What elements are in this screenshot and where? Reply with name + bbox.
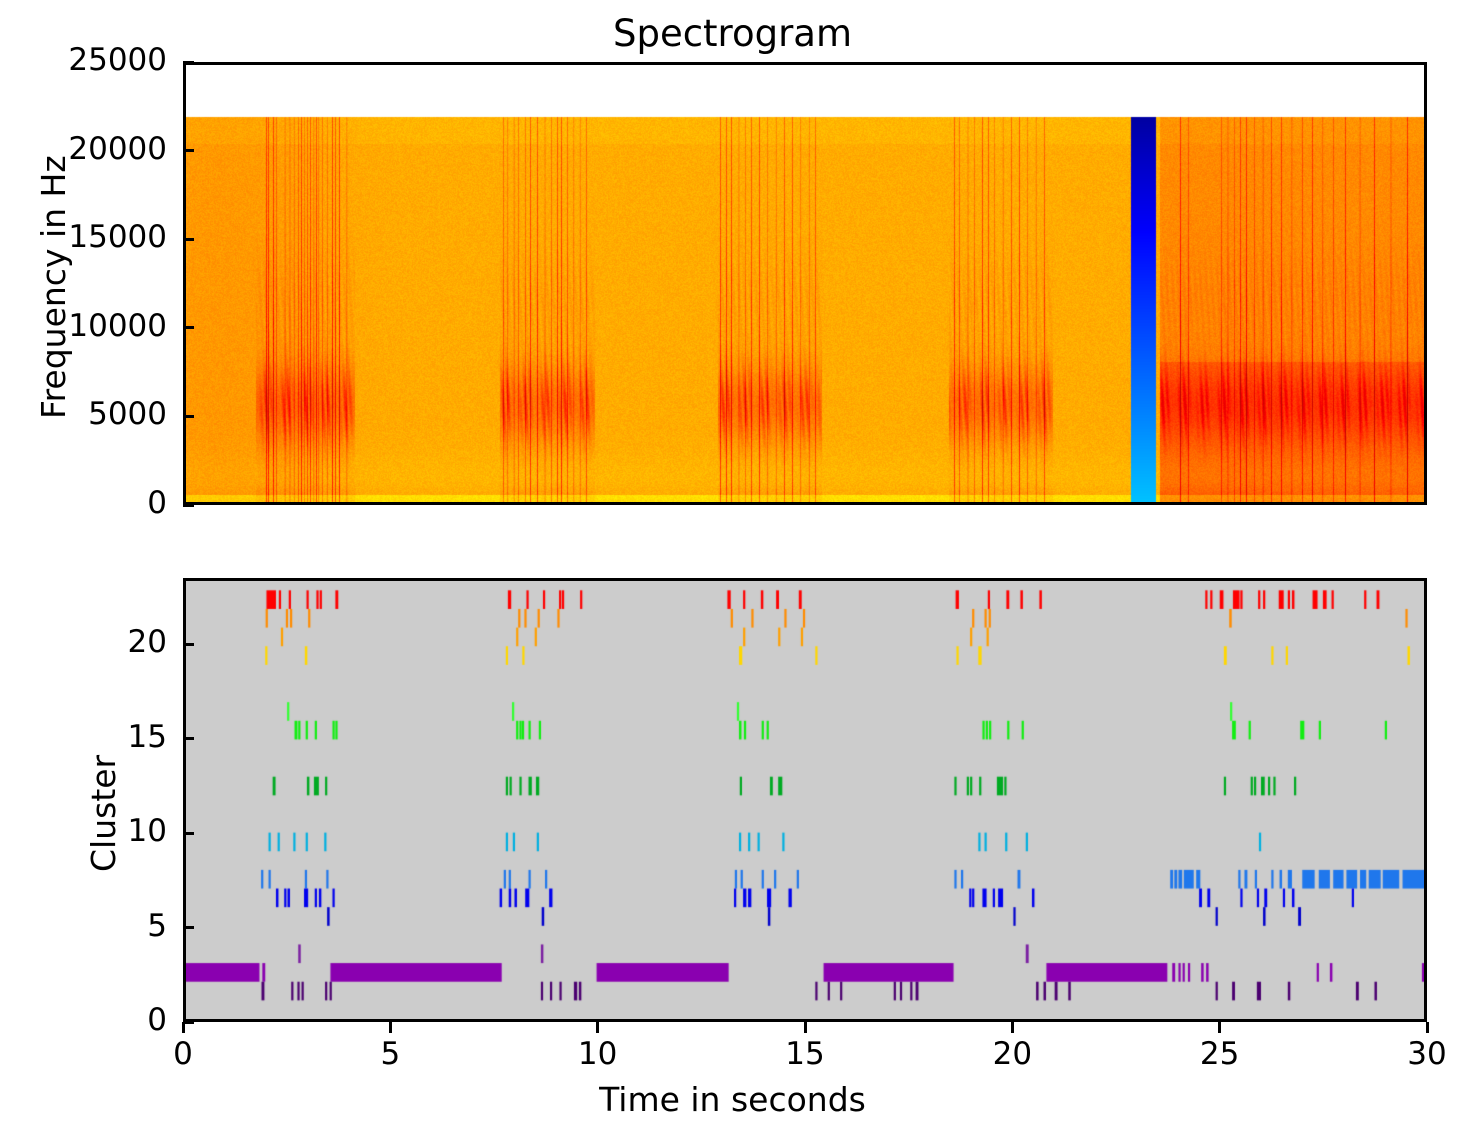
- time-tick-mark-5: [389, 1022, 392, 1033]
- cluster-axes: [183, 578, 1427, 1022]
- time-tick-mark-15: [804, 1022, 807, 1033]
- cluster-y-tick-label-5: 5: [0, 908, 167, 944]
- spectrogram-tick-mark-25000: [183, 61, 194, 64]
- time-tick-label-5: 5: [330, 1036, 450, 1072]
- spectrogram-tick-mark-5000: [183, 415, 194, 418]
- cluster-tick-mark-20: [183, 643, 194, 646]
- cluster-tick-mark-15: [183, 737, 194, 740]
- cluster-tick-mark-10: [183, 832, 194, 835]
- cluster-x-axis-label: Time in seconds: [0, 1080, 1465, 1119]
- spectrogram-image: [186, 65, 1424, 502]
- time-tick-label-15: 15: [745, 1036, 865, 1072]
- cluster-y-tick-label-15: 15: [0, 719, 167, 755]
- spectrogram-tick-mark-20000: [183, 149, 194, 152]
- time-tick-label-25: 25: [1160, 1036, 1280, 1072]
- cluster-tick-mark-0: [183, 1021, 194, 1024]
- spectrogram-axes: [183, 62, 1427, 505]
- time-tick-label-30: 30: [1367, 1036, 1465, 1072]
- figure-title: Spectrogram: [0, 12, 1465, 55]
- spectrogram-y-tick-label-10000: 10000: [0, 308, 167, 344]
- spectrogram-y-tick-label-25000: 25000: [0, 42, 167, 78]
- spectrogram-y-tick-label-15000: 15000: [0, 219, 167, 255]
- time-tick-mark-25: [1218, 1022, 1221, 1033]
- spectrogram-tick-mark-10000: [183, 326, 194, 329]
- spectrogram-tick-mark-0: [183, 504, 194, 507]
- spectrogram-y-tick-label-20000: 20000: [0, 131, 167, 167]
- time-tick-mark-0: [182, 1022, 185, 1033]
- spectrogram-y-axis-label: Frequency in Hz: [34, 155, 73, 419]
- time-tick-mark-30: [1426, 1022, 1429, 1033]
- cluster-y-axis-label: Cluster: [84, 755, 123, 872]
- figure-root: Spectrogram 0500010000150002000025000 Fr…: [0, 0, 1465, 1135]
- spectrogram-tick-mark-15000: [183, 238, 194, 241]
- cluster-tick-mark-5: [183, 926, 194, 929]
- time-tick-label-10: 10: [538, 1036, 658, 1072]
- time-tick-mark-10: [596, 1022, 599, 1033]
- time-tick-mark-20: [1011, 1022, 1014, 1033]
- time-tick-label-0: 0: [123, 1036, 243, 1072]
- spectrogram-y-tick-label-5000: 5000: [0, 396, 167, 432]
- cluster-y-tick-label-20: 20: [0, 624, 167, 660]
- cluster-y-tick-label-0: 0: [0, 1002, 167, 1038]
- cluster-raster-image: [186, 581, 1424, 1019]
- time-tick-label-20: 20: [952, 1036, 1072, 1072]
- spectrogram-y-tick-label-0: 0: [0, 485, 167, 521]
